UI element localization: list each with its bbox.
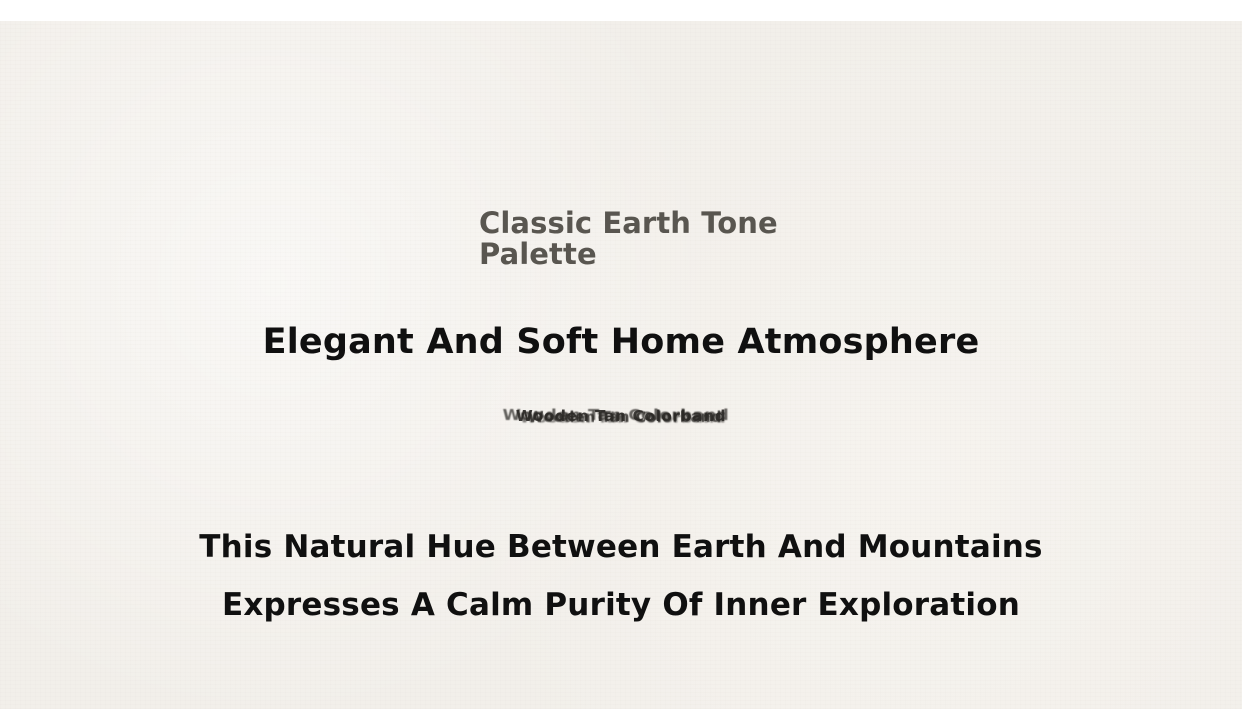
slide-content: Classic Earth Tone Palette Elegant And S… (0, 21, 1242, 709)
garbled-caption-layer-4: Wooden Tan Colorband (478, 407, 768, 429)
slide-canvas: Classic Earth Tone Palette Elegant And S… (0, 21, 1242, 709)
garbled-caption-stack: Wooden Tan Colorband Wooden Tan Colorban… (476, 404, 766, 430)
top-white-strip (0, 0, 1242, 21)
garbled-caption: Wooden Tan Colorband Wooden Tan Colorban… (0, 404, 1242, 430)
kicker-heading: Classic Earth Tone Palette (479, 208, 809, 271)
slide-root: Classic Earth Tone Palette Elegant And S… (0, 0, 1242, 709)
body-text-line-1: This Natural Hue Between Earth And Mount… (0, 529, 1242, 565)
main-headline: Elegant And Soft Home Atmosphere (0, 322, 1242, 362)
body-text-line-2: Expresses A Calm Purity Of Inner Explora… (0, 587, 1242, 623)
